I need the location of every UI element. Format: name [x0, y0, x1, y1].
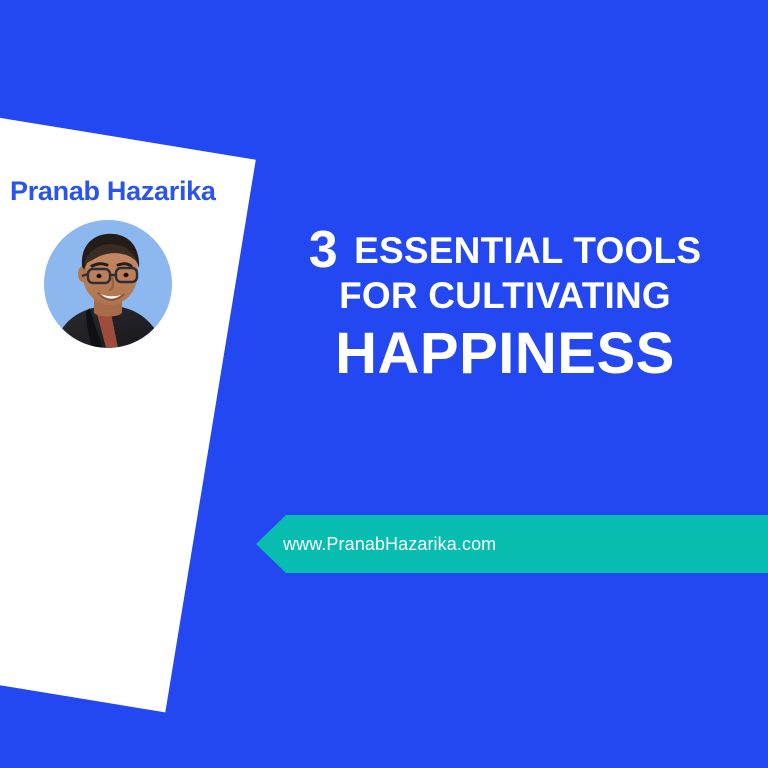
- portrait-photo-icon: [44, 220, 172, 348]
- headline-number: 3: [309, 221, 354, 279]
- avatar: [44, 220, 172, 348]
- promo-graphic-canvas: Pranab Hazarika: [0, 0, 768, 768]
- author-name: Pranab Hazarika: [10, 176, 310, 207]
- headline-line-3: HAPPINESS: [280, 321, 730, 387]
- headline: 3 ESSENTIAL TOOLS FOR CULTIVATING HAPPIN…: [280, 228, 730, 387]
- headline-line-1: 3 ESSENTIAL TOOLS: [280, 228, 730, 273]
- website-url-banner[interactable]: www.PranabHazarika.com: [256, 515, 768, 573]
- headline-line-1-text: ESSENTIAL TOOLS: [354, 230, 701, 271]
- headline-line-2: FOR CULTIVATING: [280, 273, 730, 319]
- website-url-text[interactable]: www.PranabHazarika.com: [283, 515, 496, 573]
- author-card: Pranab Hazarika: [0, 108, 256, 712]
- author-card-content: Pranab Hazarika: [0, 108, 260, 668]
